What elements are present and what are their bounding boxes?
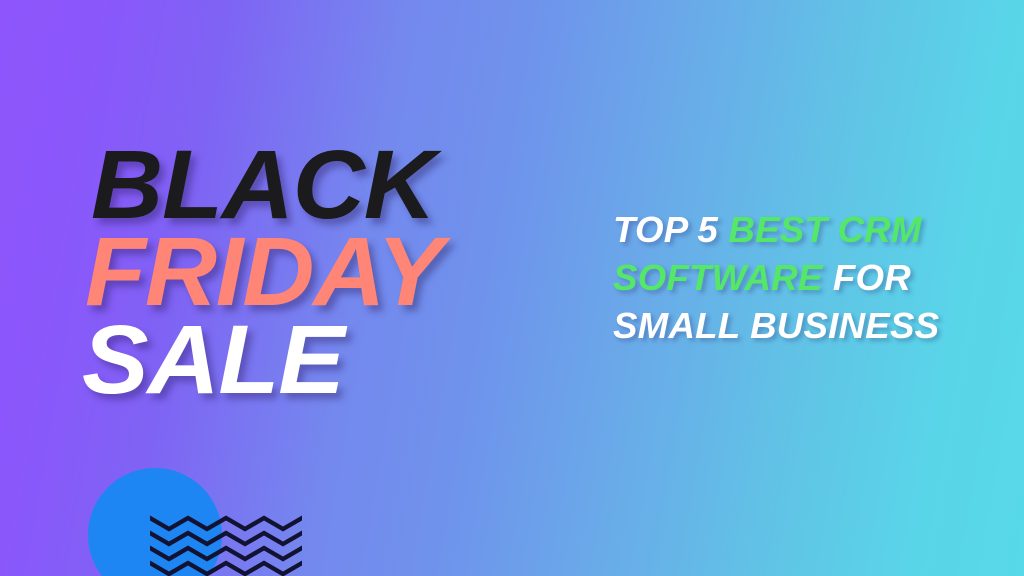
headline-line-friday: FRIDAY [85, 229, 556, 314]
subhead-block: TOP 5 BEST CRM SOFTWARE FOR SMALL BUSINE… [613, 206, 985, 350]
subhead-line-1: TOP 5 BEST CRM [613, 206, 992, 254]
chevron-wave-decoration [150, 514, 302, 576]
subhead-best-crm-text: BEST CRM [728, 209, 921, 250]
banner-canvas: BLACK FRIDAY SALE TOP 5 BEST CRM SOFTWAR… [0, 0, 1024, 576]
subhead-software-text: SOFTWARE [613, 257, 823, 298]
subhead-line-3: SMALL BUSINESS [613, 302, 992, 350]
subhead-top5-text: TOP 5 [613, 209, 728, 250]
headline-line-sale: SALE [82, 317, 556, 402]
subhead-line-2: SOFTWARE FOR [613, 254, 992, 302]
headline-block: BLACK FRIDAY SALE [82, 142, 542, 402]
subhead-for-text: FOR [823, 257, 911, 298]
headline-line-black: BLACK [91, 142, 556, 227]
